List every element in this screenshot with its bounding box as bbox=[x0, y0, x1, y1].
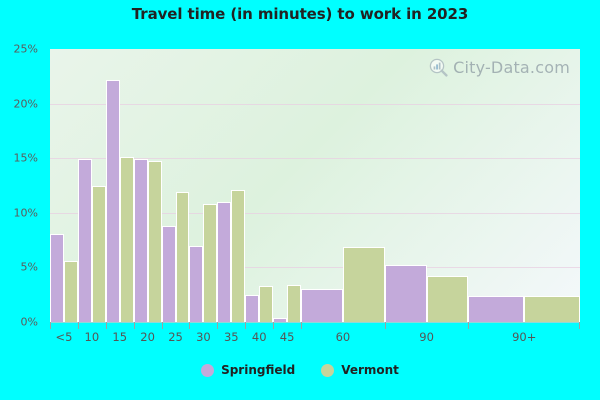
x-axis-tick-label: 90 bbox=[419, 330, 434, 344]
x-axis-tick bbox=[78, 322, 79, 329]
x-axis-tick-label: 40 bbox=[252, 330, 267, 344]
x-axis-tick bbox=[468, 322, 469, 329]
y-axis-tick-label: 15% bbox=[14, 152, 38, 165]
chart-title: Travel time (in minutes) to work in 2023 bbox=[0, 5, 600, 23]
legend-label: Vermont bbox=[341, 363, 399, 377]
x-axis-tick bbox=[245, 322, 246, 329]
bar-springfield-35 bbox=[217, 202, 231, 322]
bar-vermont-90+ bbox=[524, 296, 580, 322]
bar-springfield-90+ bbox=[468, 296, 524, 322]
x-axis-tick bbox=[217, 322, 218, 329]
bar-vermont-35 bbox=[231, 190, 245, 322]
x-axis-tick-label: 25 bbox=[168, 330, 183, 344]
plot-area: City-Data.com bbox=[50, 49, 580, 322]
x-axis-tick-label: 15 bbox=[112, 330, 127, 344]
bar-springfield-25 bbox=[162, 226, 176, 322]
legend-swatch-icon bbox=[201, 364, 214, 377]
x-axis-tick bbox=[162, 322, 163, 329]
bar-springfield-10 bbox=[78, 159, 92, 322]
x-axis-tick-label: 30 bbox=[196, 330, 211, 344]
bar-vermont-40 bbox=[259, 286, 273, 322]
bar-springfield-15 bbox=[106, 80, 120, 322]
x-axis-tick-label: 45 bbox=[280, 330, 295, 344]
y-axis-tick-label: 10% bbox=[14, 206, 38, 219]
x-axis-tick-label: 10 bbox=[85, 330, 100, 344]
bar-vermont-60 bbox=[343, 247, 385, 322]
bar-vermont-25 bbox=[176, 192, 190, 322]
x-axis-tick-label: 20 bbox=[140, 330, 155, 344]
bar-springfield-40 bbox=[245, 295, 259, 322]
x-axis-tick-label: 60 bbox=[336, 330, 351, 344]
y-axis-tick-label: 5% bbox=[21, 261, 38, 274]
x-axis-tick bbox=[385, 322, 386, 329]
bar-vermont-<5 bbox=[64, 261, 78, 322]
bar-springfield-<5 bbox=[50, 234, 64, 322]
x-axis-tick-label: 90+ bbox=[512, 330, 536, 344]
chart-root: Travel time (in minutes) to work in 2023… bbox=[0, 0, 600, 400]
bar-vermont-90 bbox=[427, 276, 469, 322]
x-axis-tick bbox=[134, 322, 135, 329]
x-axis-labels: <51015202530354045609090+ bbox=[50, 330, 580, 350]
legend-swatch-icon bbox=[321, 364, 334, 377]
legend-label: Springfield bbox=[221, 363, 295, 377]
y-axis-tick-label: 20% bbox=[14, 97, 38, 110]
x-axis-tick bbox=[50, 322, 51, 329]
chart-legend: SpringfieldVermont bbox=[0, 363, 600, 377]
x-axis-tick bbox=[579, 322, 580, 329]
legend-item-vermont[interactable]: Vermont bbox=[321, 363, 399, 377]
y-axis-tick-label: 0% bbox=[21, 316, 38, 329]
y-axis-labels: 0%5%10%15%20%25% bbox=[0, 49, 44, 322]
bar-vermont-20 bbox=[148, 161, 162, 322]
x-axis-tick bbox=[273, 322, 274, 329]
legend-item-springfield[interactable]: Springfield bbox=[201, 363, 295, 377]
bar-vermont-15 bbox=[120, 157, 134, 322]
x-axis-tick-label: 35 bbox=[224, 330, 239, 344]
bar-springfield-60 bbox=[301, 289, 343, 322]
bar-springfield-90 bbox=[385, 265, 427, 322]
bar-springfield-20 bbox=[134, 159, 148, 322]
x-axis-tick bbox=[189, 322, 190, 329]
bar-vermont-10 bbox=[92, 186, 106, 323]
y-axis-tick-label: 25% bbox=[14, 43, 38, 56]
x-axis-tick bbox=[301, 322, 302, 329]
x-axis-ticks bbox=[50, 322, 580, 330]
x-axis-tick-label: <5 bbox=[55, 330, 72, 344]
bars-layer bbox=[50, 49, 580, 322]
x-axis-tick bbox=[106, 322, 107, 329]
bar-springfield-30 bbox=[189, 246, 203, 322]
bar-vermont-30 bbox=[203, 204, 217, 322]
bar-vermont-45 bbox=[287, 285, 301, 322]
